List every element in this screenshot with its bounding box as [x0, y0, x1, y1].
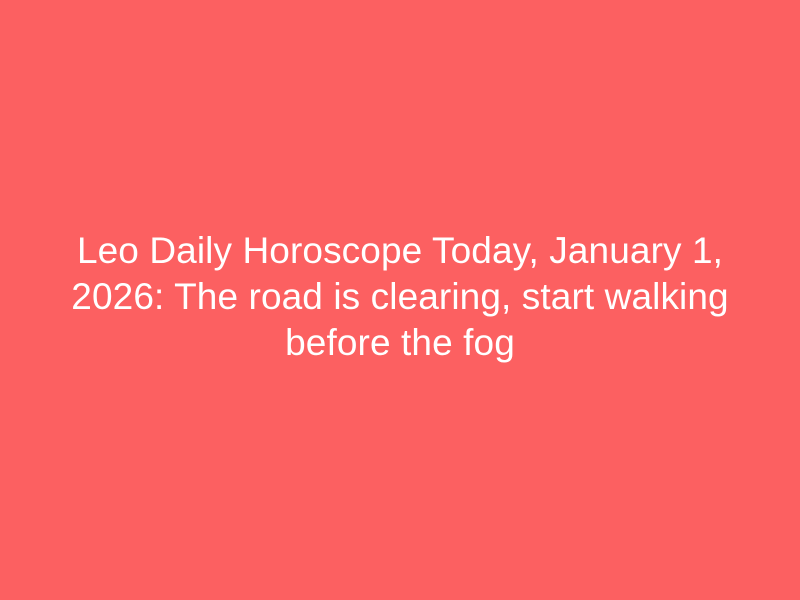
page-title: Leo Daily Horoscope Today, January 1, 20… — [20, 228, 780, 366]
headline-block: Leo Daily Horoscope Today, January 1, 20… — [0, 228, 800, 366]
horoscope-headline-card: Leo Daily Horoscope Today, January 1, 20… — [0, 0, 800, 600]
